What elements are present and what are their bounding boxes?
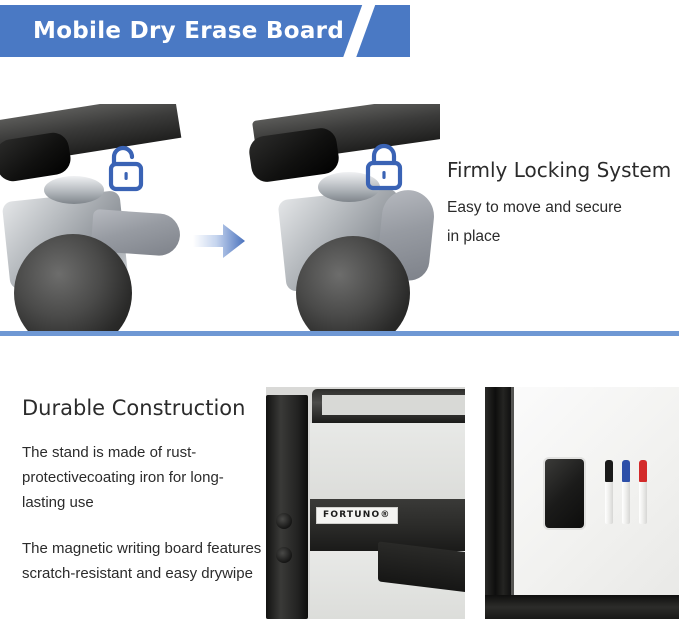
- eraser: [545, 459, 584, 528]
- lock-closed-icon: [358, 140, 410, 197]
- stand-rail-top-inner: [322, 395, 465, 415]
- header-banner: Mobile Dry Erase Board: [0, 5, 410, 57]
- product-infographic: Mobile Dry Erase Board: [0, 0, 679, 619]
- durable-construction-paragraph-1: The stand is made of rust-protectivecoat…: [22, 440, 262, 515]
- locking-system-body-line-2: in place: [447, 228, 500, 246]
- durable-construction-heading: Durable Construction: [22, 396, 245, 420]
- caster-locked-photo: [240, 104, 440, 332]
- slash-decoration-icon: [339, 5, 378, 57]
- stand-post: [266, 395, 308, 619]
- marker-cap: [622, 460, 630, 482]
- whiteboard-frame-left: [485, 387, 511, 619]
- whiteboard-frame-bottom: [485, 595, 679, 619]
- caster-unlocked-photo: [0, 104, 200, 332]
- marker-red: [639, 460, 647, 524]
- caster-swivel-cap: [44, 176, 104, 204]
- locking-system-heading: Firmly Locking System: [447, 158, 671, 182]
- whiteboard-surface: [514, 387, 679, 595]
- section-divider: [0, 331, 679, 336]
- brand-label: FORTUNO®: [316, 507, 398, 524]
- lock-open-icon: [98, 142, 150, 199]
- marker-blue: [622, 460, 630, 524]
- stand-post-hole: [276, 513, 292, 529]
- marker-cap: [605, 460, 613, 482]
- page-title: Mobile Dry Erase Board: [33, 18, 344, 44]
- stand-detail-photo: FORTUNO®: [266, 387, 465, 619]
- stand-panel-upper: [310, 423, 465, 499]
- marker-black: [605, 460, 613, 524]
- frame-end-cap: [0, 130, 73, 183]
- whiteboard-corner-photo: [485, 387, 679, 619]
- stand-post-hole: [276, 547, 292, 563]
- flow-arrow-icon: [193, 222, 245, 260]
- locking-system-body-line-1: Easy to move and secure: [447, 199, 622, 217]
- durable-construction-paragraph-2: The magnetic writing board features scra…: [22, 536, 262, 586]
- marker-cap: [639, 460, 647, 482]
- whiteboard-frame-inner-edge: [511, 387, 514, 597]
